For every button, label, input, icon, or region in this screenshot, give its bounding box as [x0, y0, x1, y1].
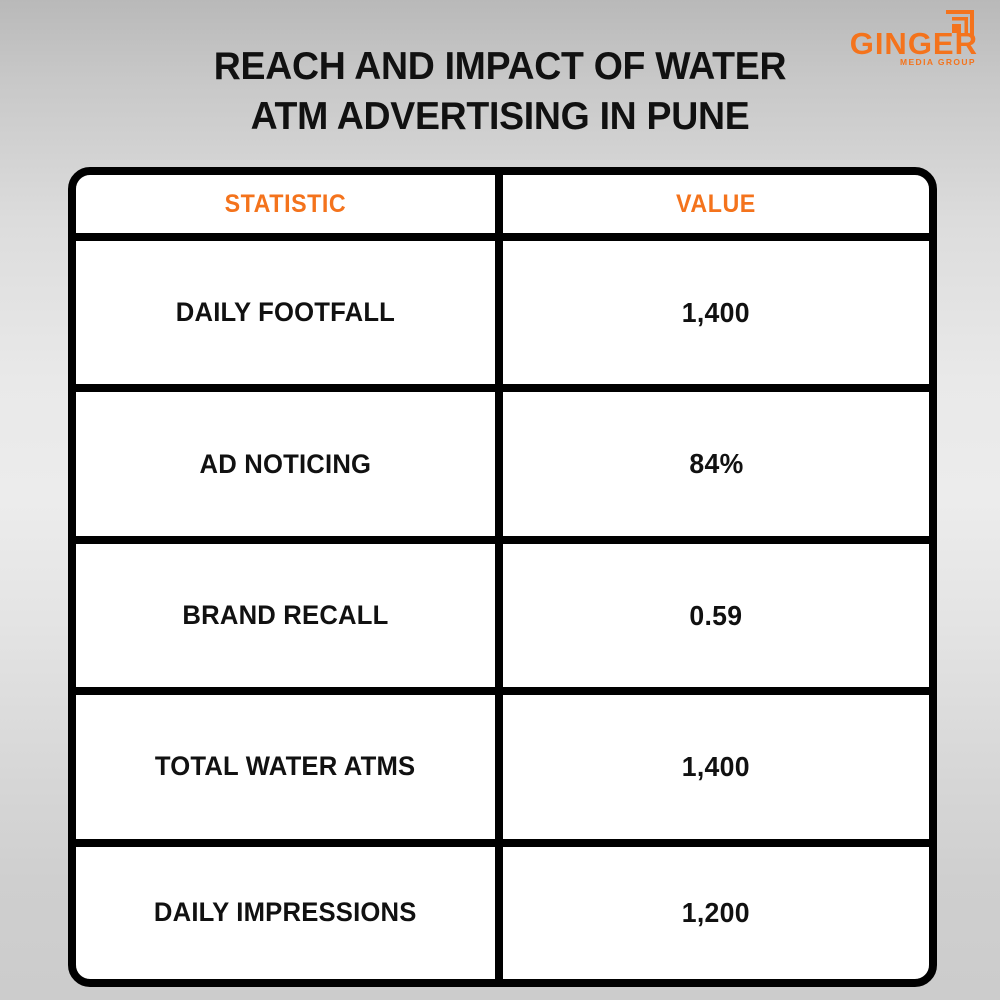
table-row: TOTAL WATER ATMS 1,400 — [76, 691, 929, 842]
table-body: DAILY FOOTFALL 1,400 AD NOTICING 84% BRA… — [76, 237, 929, 979]
column-header-value: VALUE — [499, 175, 929, 237]
table-row: DAILY IMPRESSIONS 1,200 — [76, 843, 929, 979]
statistic-label: TOTAL WATER ATMS — [155, 751, 415, 782]
value-label: 0.59 — [690, 600, 743, 632]
column-header-value-label: VALUE — [676, 190, 756, 219]
value-label: 1,200 — [682, 897, 750, 929]
value-label: 1,400 — [682, 751, 750, 783]
page-title: REACH AND IMPACT OF WATER ATM ADVERTISIN… — [20, 42, 980, 142]
table-row: AD NOTICING 84% — [76, 388, 929, 539]
cell-statistic: DAILY IMPRESSIONS — [76, 843, 499, 979]
statistic-label: DAILY FOOTFALL — [176, 297, 395, 328]
cell-statistic: AD NOTICING — [76, 388, 499, 539]
cell-statistic: BRAND RECALL — [76, 540, 499, 691]
statistics-table-container: STATISTIC VALUE DAILY FOOTFALL 1,400 AD … — [68, 167, 937, 987]
cell-value: 1,200 — [499, 843, 929, 979]
statistic-label: BRAND RECALL — [183, 600, 389, 631]
page-title-line-2: ATM ADVERTISING IN PUNE — [20, 92, 980, 142]
statistics-table: STATISTIC VALUE DAILY FOOTFALL 1,400 AD … — [76, 175, 929, 979]
cell-statistic: DAILY FOOTFALL — [76, 237, 499, 388]
cell-statistic: TOTAL WATER ATMS — [76, 691, 499, 842]
statistic-label: DAILY IMPRESSIONS — [154, 897, 417, 928]
statistic-label: AD NOTICING — [200, 449, 372, 480]
cell-value: 1,400 — [499, 691, 929, 842]
cell-value: 0.59 — [499, 540, 929, 691]
cell-value: 1,400 — [499, 237, 929, 388]
table-header: STATISTIC VALUE — [76, 175, 929, 237]
table-row: DAILY FOOTFALL 1,400 — [76, 237, 929, 388]
cell-value: 84% — [499, 388, 929, 539]
page-title-line-1: REACH AND IMPACT OF WATER — [20, 42, 980, 92]
column-header-statistic: STATISTIC — [76, 175, 499, 237]
table-header-row: STATISTIC VALUE — [76, 175, 929, 237]
table-row: BRAND RECALL 0.59 — [76, 540, 929, 691]
column-header-statistic-label: STATISTIC — [225, 190, 347, 219]
value-label: 84% — [689, 448, 743, 480]
value-label: 1,400 — [682, 297, 750, 329]
